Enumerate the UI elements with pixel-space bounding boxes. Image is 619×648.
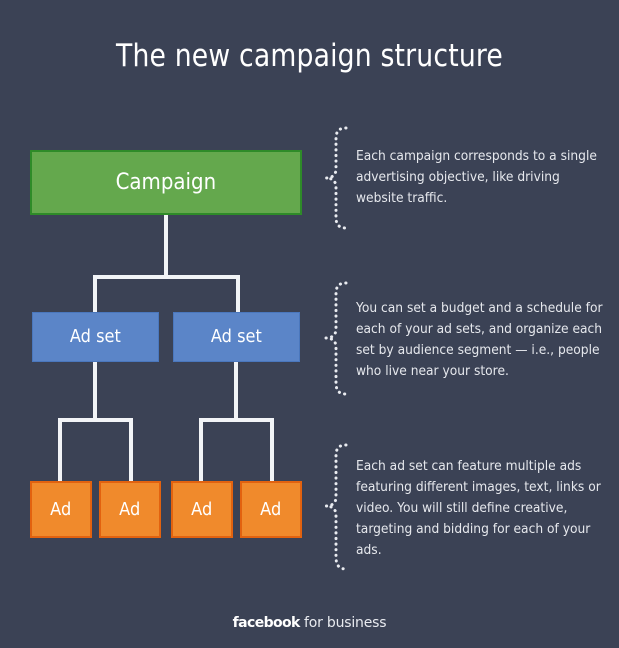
node-ad-set-2-label: Ad set	[211, 328, 262, 346]
connector-ad-bus-right	[199, 418, 274, 422]
node-campaign[interactable]: Campaign	[30, 150, 302, 215]
connector-adset-2-down	[234, 362, 238, 420]
connector-adset-bus	[93, 275, 240, 279]
connector-adset-2-drop	[236, 275, 240, 314]
connector-ad-2-drop	[129, 418, 133, 483]
node-ad-4[interactable]: Ad	[240, 481, 302, 538]
footer-logo: facebook for business	[0, 615, 619, 631]
annotation-ad: Each ad set can feature multiple ads fea…	[356, 456, 607, 561]
node-ad-set-1-label: Ad set	[70, 328, 121, 346]
node-campaign-label: Campaign	[116, 172, 217, 194]
connector-adset-1-down	[93, 362, 97, 420]
connector-ad-bus-left	[58, 418, 133, 422]
node-ad-2-label: Ad	[119, 501, 140, 519]
node-ad-set-1[interactable]: Ad set	[32, 312, 159, 362]
infographic-canvas: The new campaign structure Campaign Ad s…	[0, 0, 619, 648]
node-ad-set-2[interactable]: Ad set	[173, 312, 300, 362]
node-ad-1-label: Ad	[50, 501, 71, 519]
connector-adset-1-drop	[93, 275, 97, 314]
node-ad-3[interactable]: Ad	[171, 481, 233, 538]
facebook-wordmark: facebook	[233, 615, 300, 631]
node-ad-2[interactable]: Ad	[99, 481, 161, 538]
node-ad-1[interactable]: Ad	[30, 481, 92, 538]
connector-ad-1-drop	[58, 418, 62, 483]
curly-brace-icon-campaign	[322, 126, 348, 230]
node-ad-4-label: Ad	[260, 501, 281, 519]
connector-ad-3-drop	[199, 418, 203, 483]
page-title: The new campaign structure	[43, 38, 575, 74]
connector-ad-4-drop	[270, 418, 274, 483]
curly-brace-icon-ad	[322, 443, 348, 571]
curly-brace-icon-ad-set	[322, 281, 348, 396]
node-ad-3-label: Ad	[191, 501, 212, 519]
annotation-campaign: Each campaign corresponds to a single ad…	[356, 146, 607, 209]
connector-campaign-down	[164, 215, 168, 277]
annotation-ad-set: You can set a budget and a schedule for …	[356, 298, 607, 382]
footer-suffix: for business	[300, 615, 387, 631]
